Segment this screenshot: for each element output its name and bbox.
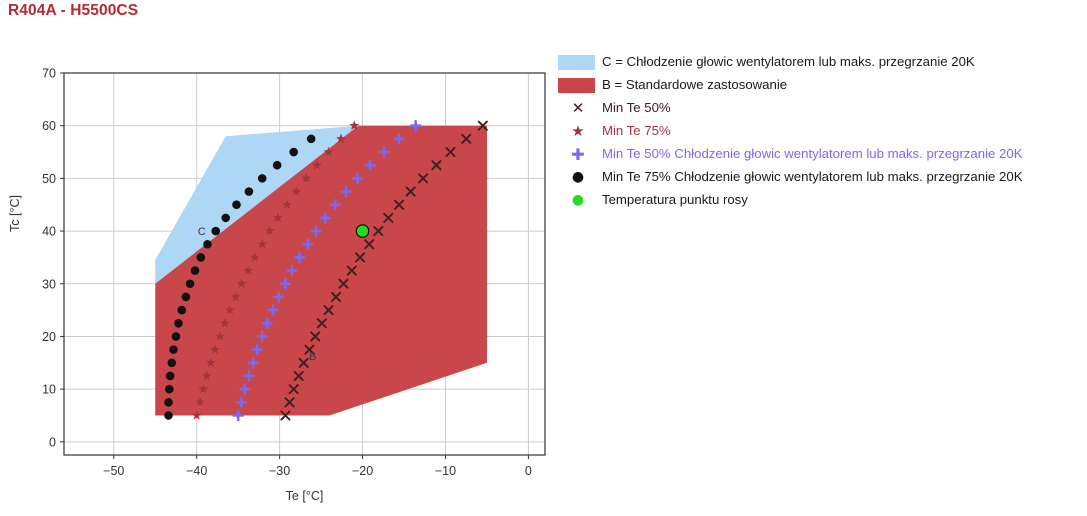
legend-item-label: Min Te 75% Chłodzenie głowic wentylatore… [600, 167, 1023, 186]
legend-item-label: B = Standardowe zastosowanie [600, 75, 787, 94]
legend-item-label: Min Te 50% Chłodzenie głowic wentylatore… [600, 144, 1023, 163]
legend-dot-marker-icon: ● [556, 190, 600, 210]
marker-dot [186, 279, 195, 288]
legend-color-swatch [558, 55, 595, 70]
marker-dot [174, 319, 183, 328]
marker-dot [168, 358, 177, 367]
x-tick-label: −10 [435, 464, 456, 478]
marker-dot [221, 214, 230, 223]
legend-marker-glyph: ✚ [571, 145, 584, 164]
marker-dot [203, 240, 212, 249]
legend-marker-glyph: ★ [571, 122, 584, 141]
legend-item-1[interactable]: B = Standardowe zastosowanie [556, 75, 1087, 95]
marker-dot [164, 411, 173, 420]
legend-item-label: C = Chłodzenie głowic wentylatorem lub m… [600, 52, 975, 71]
x-tick-label: 0 [525, 464, 532, 478]
legend-marker-glyph: ● [572, 191, 584, 210]
legend-color-patch-icon [556, 52, 600, 72]
marker-dot [172, 332, 181, 341]
chart-svg: CB010203040506070−50−40−30−20−100Te [°C] [0, 0, 560, 511]
marker-dot [166, 372, 175, 381]
legend-item-4[interactable]: ✚Min Te 50% Chłodzenie głowic wentylator… [556, 144, 1087, 164]
region-annotation-B: B [309, 351, 316, 363]
marker-dot [211, 227, 220, 236]
legend-item-6[interactable]: ●Temperatura punktu rosy [556, 190, 1087, 210]
y-tick-label: 70 [42, 67, 56, 81]
y-tick-label: 60 [42, 119, 56, 133]
chart-plot-area: CB010203040506070−50−40−30−20−100Te [°C]… [0, 0, 560, 511]
marker-dot [356, 225, 368, 237]
chart-legend: C = Chłodzenie głowic wentylatorem lub m… [556, 52, 1087, 213]
legend-item-2[interactable]: ✕Min Te 50% [556, 98, 1087, 118]
legend-item-0[interactable]: C = Chłodzenie głowic wentylatorem lub m… [556, 52, 1087, 72]
legend-item-label: Min Te 50% [600, 98, 671, 117]
y-tick-label: 0 [49, 435, 56, 449]
legend-marker-glyph: ✕ [572, 99, 585, 118]
legend-marker-glyph: ● [572, 168, 584, 187]
legend-star-marker-icon: ★ [556, 121, 600, 141]
x-tick-label: −20 [352, 464, 373, 478]
marker-dot [245, 187, 254, 196]
y-tick-label: 30 [42, 277, 56, 291]
legend-item-label: Min Te 75% [600, 121, 671, 140]
marker-dot [164, 398, 173, 407]
region-annotation-C: C [198, 226, 206, 238]
marker-dot [169, 345, 178, 354]
marker-dot [177, 306, 186, 315]
legend-dot-marker-icon: ● [556, 167, 600, 187]
legend-color-swatch [558, 78, 595, 93]
legend-item-3[interactable]: ★Min Te 75% [556, 121, 1087, 141]
legend-item-label: Temperatura punktu rosy [600, 190, 748, 209]
legend-x-marker-icon: ✕ [556, 98, 600, 118]
y-tick-label: 20 [42, 330, 56, 344]
legend-plus-marker-icon: ✚ [556, 144, 600, 164]
marker-dot [289, 148, 298, 157]
x-tick-label: −30 [269, 464, 290, 478]
y-axis-label: Tc [°C] [8, 195, 22, 232]
marker-dot [191, 266, 200, 275]
marker-dot [273, 161, 282, 170]
y-tick-label: 50 [42, 172, 56, 186]
marker-dot [165, 385, 174, 394]
marker-dot [258, 174, 267, 183]
x-tick-label: −40 [186, 464, 207, 478]
legend-color-patch-icon [556, 75, 600, 95]
marker-dot [232, 200, 241, 209]
y-tick-label: 40 [42, 225, 56, 239]
marker-dot [307, 135, 316, 144]
x-axis-label: Te [°C] [286, 489, 324, 503]
legend-item-5[interactable]: ●Min Te 75% Chłodzenie głowic wentylator… [556, 167, 1087, 187]
marker-dot [182, 293, 191, 302]
y-tick-label: 10 [42, 383, 56, 397]
marker-dot [197, 253, 206, 262]
x-tick-label: −50 [103, 464, 124, 478]
